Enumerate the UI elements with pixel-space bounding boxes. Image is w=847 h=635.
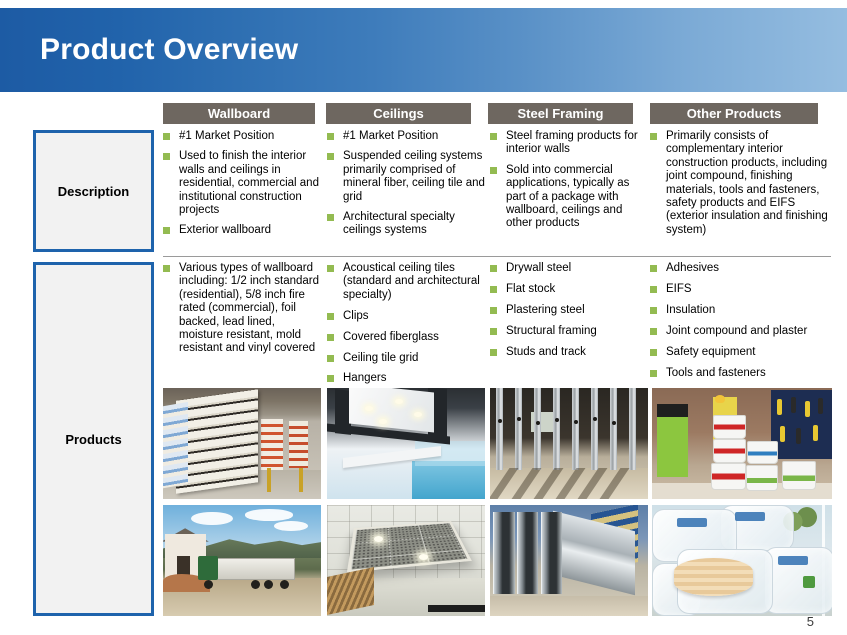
bullet-square-icon (490, 133, 497, 140)
list-item-text: Sold into commercial applications, typic… (506, 164, 629, 230)
row-divider (163, 256, 831, 257)
photo-steel-stud-framing (490, 388, 648, 499)
bullet-square-icon (163, 133, 170, 140)
list-item: Hangers (327, 372, 485, 385)
list-item: EIFS (650, 283, 832, 296)
bullet-list: Steel framing products for interior wall… (490, 130, 642, 231)
bullet-square-icon (490, 265, 497, 272)
list-item-text: Various types of wallboard including: 1/… (179, 262, 319, 354)
bullet-square-icon (163, 153, 170, 160)
list-item-text: Insulation (666, 304, 715, 316)
bullet-list: #1 Market Position Used to finish the in… (163, 130, 321, 238)
list-item-text: Tools and fasteners (666, 367, 766, 379)
photo-wallboard-stack (163, 388, 321, 499)
bullet-square-icon (327, 265, 334, 272)
column-header-wallboard: Wallboard (163, 103, 315, 124)
list-item-text: Covered fiberglass (343, 331, 439, 343)
list-item: Drywall steel (490, 262, 642, 275)
bullet-square-icon (490, 286, 497, 293)
list-item: Flat stock (490, 283, 642, 296)
list-item: Adhesives (650, 262, 832, 275)
list-item-text: Ceiling tile grid (343, 352, 418, 364)
bullet-square-icon (490, 349, 497, 356)
bullet-square-icon (327, 355, 334, 362)
bullet-square-icon (650, 307, 657, 314)
bullet-square-icon (650, 370, 657, 377)
column-header-other-products: Other Products (650, 103, 818, 124)
column-headers: Wallboard Ceilings Steel Framing Other P… (163, 103, 831, 124)
list-item: Tools and fasteners (650, 367, 832, 380)
bullet-square-icon (327, 214, 334, 221)
list-item: Clips (327, 310, 485, 323)
list-item: Covered fiberglass (327, 331, 485, 344)
list-item-text: EIFS (666, 283, 692, 295)
list-item: #1 Market Position (327, 130, 485, 143)
list-item-text: #1 Market Position (179, 130, 274, 142)
list-item: Various types of wallboard including: 1/… (163, 262, 321, 356)
list-item: Ceiling tile grid (327, 352, 485, 365)
photo-retail-display (652, 388, 832, 499)
bullet-square-icon (490, 328, 497, 335)
list-item: Used to finish the interior walls and ce… (163, 150, 321, 217)
column-header-steel-framing: Steel Framing (488, 103, 633, 124)
products-cell-other-products: Adhesives EIFS Insulation Joint compound… (650, 262, 832, 387)
bullet-square-icon (650, 265, 657, 272)
list-item: Safety equipment (650, 346, 832, 359)
bullet-square-icon (327, 334, 334, 341)
title-banner: Product Overview (0, 8, 847, 92)
list-item-text: Acoustical ceiling tiles (standard and a… (343, 262, 480, 301)
list-item-text: Plastering steel (506, 304, 585, 316)
description-cell-wallboard: #1 Market Position Used to finish the in… (163, 130, 321, 238)
list-item: Acoustical ceiling tiles (standard and a… (327, 262, 485, 302)
bullet-square-icon (650, 286, 657, 293)
row-label-products: Products (33, 262, 154, 616)
bullet-list: Adhesives EIFS Insulation Joint compound… (650, 262, 832, 380)
bullet-square-icon (650, 133, 657, 140)
bullet-square-icon (163, 227, 170, 234)
list-item-text: Drywall steel (506, 262, 571, 274)
bullet-list: Primarily consists of complementary inte… (650, 130, 832, 237)
photo-architectural-ceiling (327, 388, 485, 499)
list-item: Architectural specialty ceilings systems (327, 211, 485, 238)
list-item-text: Exterior wallboard (179, 224, 271, 236)
photo-delivery-truck (163, 505, 321, 616)
bullet-square-icon (490, 307, 497, 314)
list-item-text: Used to finish the interior walls and ce… (179, 150, 319, 216)
list-item-text: Adhesives (666, 262, 719, 274)
list-item: #1 Market Position (163, 130, 321, 143)
photo-acoustic-tile-ceiling (327, 505, 485, 616)
list-item-text: #1 Market Position (343, 130, 438, 142)
products-cell-ceilings: Acoustical ceiling tiles (standard and a… (327, 262, 485, 393)
products-cell-steel-framing: Drywall steel Flat stock Plastering stee… (490, 262, 642, 367)
photo-insulation-bags (652, 505, 832, 616)
bullet-square-icon (327, 133, 334, 140)
description-cell-other-products: Primarily consists of complementary inte… (650, 130, 832, 237)
bullet-list: Drywall steel Flat stock Plastering stee… (490, 262, 642, 359)
list-item: Primarily consists of complementary inte… (650, 130, 832, 237)
bullet-list: Various types of wallboard including: 1/… (163, 262, 321, 356)
list-item-text: Hangers (343, 372, 386, 384)
list-item-text: Primarily consists of complementary inte… (666, 130, 828, 236)
description-cell-steel-framing: Steel framing products for interior wall… (490, 130, 642, 231)
column-header-ceilings: Ceilings (326, 103, 471, 124)
bullet-square-icon (650, 349, 657, 356)
list-item: Studs and track (490, 346, 642, 359)
bullet-square-icon (490, 167, 497, 174)
description-cell-ceilings: #1 Market Position Suspended ceiling sys… (327, 130, 485, 238)
page-number: 5 (807, 614, 814, 629)
list-item-text: Clips (343, 310, 369, 322)
list-item: Exterior wallboard (163, 224, 321, 237)
bullet-square-icon (163, 265, 170, 272)
list-item: Suspended ceiling systems primarily comp… (327, 150, 485, 204)
list-item-text: Suspended ceiling systems primarily comp… (343, 150, 485, 202)
bullet-square-icon (327, 313, 334, 320)
list-item: Joint compound and plaster (650, 325, 832, 338)
bullet-list: #1 Market Position Suspended ceiling sys… (327, 130, 485, 238)
list-item-text: Architectural specialty ceilings systems (343, 211, 455, 236)
bullet-square-icon (327, 153, 334, 160)
products-cell-wallboard: Various types of wallboard including: 1/… (163, 262, 321, 356)
bullet-square-icon (327, 375, 334, 382)
product-photo-grid (163, 388, 832, 620)
list-item-text: Steel framing products for interior wall… (506, 130, 638, 155)
photo-steel-stud-stock (490, 505, 648, 616)
page-title: Product Overview (40, 33, 298, 67)
list-item-text: Studs and track (506, 346, 586, 358)
list-item-text: Structural framing (506, 325, 597, 337)
list-item: Structural framing (490, 325, 642, 338)
bullet-list: Acoustical ceiling tiles (standard and a… (327, 262, 485, 386)
list-item-text: Flat stock (506, 283, 555, 295)
list-item: Sold into commercial applications, typic… (490, 164, 642, 231)
list-item: Steel framing products for interior wall… (490, 130, 642, 157)
list-item: Insulation (650, 304, 832, 317)
row-label-description: Description (33, 130, 154, 252)
bullet-square-icon (650, 328, 657, 335)
list-item-text: Safety equipment (666, 346, 756, 358)
list-item-text: Joint compound and plaster (666, 325, 807, 337)
list-item: Plastering steel (490, 304, 642, 317)
